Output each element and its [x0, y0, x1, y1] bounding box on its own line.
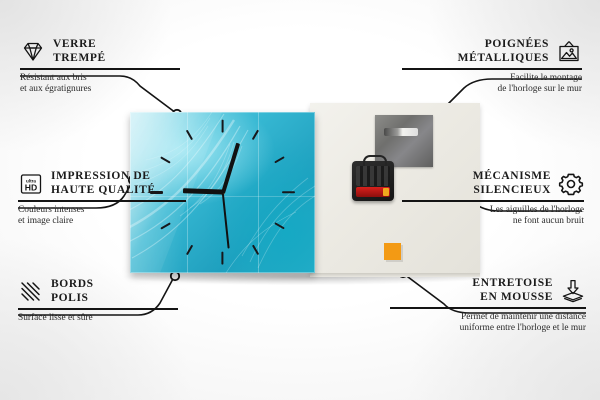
clock-hour-hand	[182, 189, 222, 195]
feature-title-line1: IMPRESSION DE	[51, 170, 156, 184]
clock-tick	[282, 191, 295, 193]
infographic-root: VERRE TREMPÉ Résistant aux bris et aux é…	[0, 0, 600, 400]
feature-desc-line1: Couleurs intenses	[18, 205, 186, 216]
ultra-hd-icon: ultra HD	[18, 171, 44, 197]
clock-tick	[252, 130, 259, 140]
feature-mecanisme-silencieux[interactable]: MÉCANISME SILENCIEUX Les aiguilles de l'…	[402, 170, 584, 227]
hanging-frame-icon	[556, 39, 582, 65]
feature-entretoise-en-mousse[interactable]: ENTRETOISE EN MOUSSE Permet de maintenir…	[390, 277, 586, 334]
polished-edge-icon	[18, 279, 44, 305]
feature-poignees-metalliques[interactable]: POIGNÉES MÉTALLIQUES Facilite le montage…	[402, 38, 582, 95]
feature-bords-polis[interactable]: BORDS POLIS Surface lisse et sûre	[18, 278, 178, 324]
gear-icon	[558, 171, 584, 197]
feature-desc-line1: Résistant aux bris	[20, 73, 180, 84]
feature-divider	[18, 200, 186, 202]
feature-desc-line2: ne font aucun bruit	[402, 216, 584, 227]
feature-desc-line1: Permet de maintenir une distance	[390, 312, 586, 323]
feature-title-line2: HAUTE QUALITÉ	[51, 184, 156, 198]
clock-tick	[221, 120, 223, 133]
feature-divider	[390, 307, 586, 309]
quartz-movement	[352, 161, 394, 201]
clock-tick	[221, 252, 223, 265]
feature-divider	[20, 68, 180, 70]
ultra-hd-icon-bottom: HD	[25, 182, 37, 192]
foam-spacer	[384, 243, 401, 260]
feature-desc-line1: Les aiguilles de l'horloge	[402, 205, 584, 216]
feature-header: ENTRETOISE EN MOUSSE	[390, 277, 586, 304]
feature-title-line1: VERRE	[53, 38, 106, 52]
clock-tick	[186, 130, 193, 140]
feature-title-line2: EN MOUSSE	[472, 291, 553, 305]
feature-divider	[18, 308, 178, 310]
feature-desc-line2: et aux égratignures	[20, 84, 180, 95]
feature-title-line1: POIGNÉES	[458, 38, 549, 52]
feature-title-line2: POLIS	[51, 292, 94, 306]
clock-tick	[274, 156, 284, 163]
feature-title-line1: MÉCANISME	[473, 170, 551, 184]
feature-desc-line2: et image claire	[18, 216, 186, 227]
clock-tick	[160, 156, 170, 163]
feature-title-line2: SILENCIEUX	[473, 184, 551, 198]
feature-impression-haute-qualite[interactable]: ultra HD IMPRESSION DE HAUTE QUALITÉ Cou…	[18, 170, 186, 227]
clock-tick	[186, 244, 193, 254]
feature-title-line2: MÉTALLIQUES	[458, 52, 549, 66]
feature-divider	[402, 68, 582, 70]
panel-seam-2	[258, 112, 259, 273]
feature-title-line1: BORDS	[51, 278, 94, 292]
press-down-pad-icon	[560, 278, 586, 304]
feature-desc-line2: uniforme entre l'horloge et le mur	[390, 323, 586, 334]
battery	[356, 187, 390, 197]
clock-second-hand	[222, 192, 229, 248]
clock-tick	[252, 244, 259, 254]
diamond-icon	[20, 39, 46, 65]
feature-verre-trempe[interactable]: VERRE TREMPÉ Résistant aux bris et aux é…	[20, 38, 180, 95]
feature-header: POIGNÉES MÉTALLIQUES	[402, 38, 582, 65]
movement-housing-texture	[356, 166, 390, 186]
feature-title-line2: TREMPÉ	[53, 52, 106, 66]
feature-header: VERRE TREMPÉ	[20, 38, 180, 65]
feature-desc-line1: Surface lisse et sûre	[18, 313, 178, 324]
feature-desc-line2: de l'horloge sur le mur	[402, 84, 582, 95]
clock-center-cap	[220, 190, 225, 195]
feature-divider	[402, 200, 584, 202]
feature-header: ultra HD IMPRESSION DE HAUTE QUALITÉ	[18, 170, 186, 197]
panel-seam-1	[187, 112, 188, 273]
feature-header: BORDS POLIS	[18, 278, 178, 305]
clock-minute-hand	[221, 142, 240, 193]
hanger-slot	[384, 128, 418, 136]
clock-tick	[274, 222, 284, 229]
feature-header: MÉCANISME SILENCIEUX	[402, 170, 584, 197]
feature-title-line1: ENTRETOISE	[472, 277, 553, 291]
feature-desc-line1: Facilite le montage	[402, 73, 582, 84]
